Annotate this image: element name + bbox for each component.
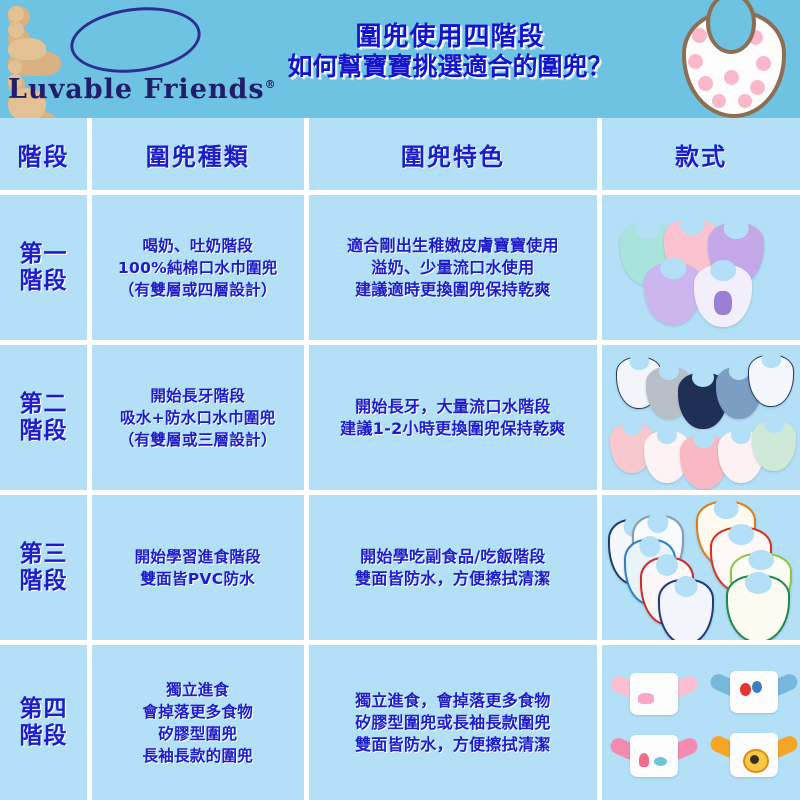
bib-feature-cell: 獨立進食，會掉落更多食物 矽膠型圍兜或長袖長款圍兜 雙面皆防水，方便擦拭清潔 bbox=[309, 645, 598, 800]
style-photo-stage-2 bbox=[602, 345, 800, 490]
table-row: 第三 階段 開始學習進食階段 雙面皆PVC防水 開始學吃副食品/吃飯階段 雙面皆… bbox=[0, 495, 800, 640]
stage-label: 第二 階段 bbox=[20, 391, 68, 445]
bib-type-cell: 開始長牙階段 吸水+防水口水巾圍兜 （有雙層或三層設計） bbox=[92, 345, 304, 490]
title-line-2: 如何幫寶寶挑選適合的圍兜？ bbox=[240, 52, 660, 82]
bib-type-text: 獨立進食 會掉落更多食物 矽膠型圍兜 長袖長款的圍兜 bbox=[138, 679, 257, 767]
bib-type-line: 喝奶、吐奶階段 bbox=[142, 237, 253, 255]
stage-line-1: 第四 bbox=[20, 696, 68, 722]
stage-label: 第四 階段 bbox=[20, 696, 68, 750]
bib-type-cell: 開始學習進食階段 雙面皆PVC防水 bbox=[92, 495, 304, 640]
stage-line-2: 階段 bbox=[20, 418, 68, 444]
column-header-style-label: 款式 bbox=[675, 137, 727, 172]
bib-type-cell: 喝奶、吐奶階段 100%純棉口水巾圍兜 （有雙層或四層設計） bbox=[92, 195, 304, 340]
stage-label: 第三 階段 bbox=[20, 541, 68, 595]
bib-feature-text: 開始學吃副食品/吃飯階段 雙面皆防水，方便擦拭清潔 bbox=[351, 546, 555, 590]
bib-feature-line: 適合剛出生稚嫩皮膚寶寶使用 bbox=[347, 236, 559, 255]
column-header-stage: 階段 bbox=[0, 118, 87, 190]
stage-line-2: 階段 bbox=[20, 568, 68, 594]
style-photo-stage-4 bbox=[602, 645, 800, 800]
bib-type-line: 開始學習進食階段 bbox=[135, 548, 261, 566]
stage-cell: 第四 階段 bbox=[0, 645, 87, 800]
column-header-feature: 圍兜特色 bbox=[309, 118, 598, 190]
bib-feature-line: 雙面皆防水，方便擦拭清潔 bbox=[355, 735, 551, 754]
bib-feature-cell: 開始學吃副食品/吃飯階段 雙面皆防水，方便擦拭清潔 bbox=[309, 495, 598, 640]
column-header-stage-label: 階段 bbox=[18, 137, 70, 172]
stages-table: 階段 圍兜種類 圍兜特色 款式 第一 階段 喝奶、吐奶階段 100%純棉口水巾圍… bbox=[0, 118, 800, 800]
bib-feature-line: 開始學吃副食品/吃飯階段 bbox=[360, 547, 545, 566]
stage-label: 第一 階段 bbox=[20, 241, 68, 295]
column-header-type-label: 圍兜種類 bbox=[146, 137, 250, 172]
bib-feature-line: 獨立進食，會掉落更多食物 bbox=[355, 691, 551, 710]
column-header-style: 款式 bbox=[602, 118, 800, 190]
page-title: 圍兜使用四階段 如何幫寶寶挑選適合的圍兜？ bbox=[240, 22, 660, 82]
style-photo-stage-1 bbox=[602, 195, 800, 340]
bib-type-line: 長袖長款的圍兜 bbox=[142, 747, 253, 765]
bib-feature-text: 開始長牙，大量流口水階段 建議1-2小時更換圍兜保持乾爽 bbox=[336, 396, 569, 440]
table-row: 第一 階段 喝奶、吐奶階段 100%純棉口水巾圍兜 （有雙層或四層設計） 適合剛… bbox=[0, 195, 800, 340]
bib-type-line: （有雙層或三層設計） bbox=[119, 431, 277, 449]
bib-feature-cell: 開始長牙，大量流口水階段 建議1-2小時更換圍兜保持乾爽 bbox=[309, 345, 598, 490]
stage-line-2: 階段 bbox=[20, 268, 68, 294]
logo-ellipse-icon bbox=[67, 0, 205, 79]
bib-type-line: 矽膠型圍兜 bbox=[158, 725, 237, 743]
bib-feature-line: 溢奶、少量流口水使用 bbox=[371, 258, 534, 277]
bib-type-line: （有雙層或四層設計） bbox=[119, 281, 277, 299]
stage-cell: 第一 階段 bbox=[0, 195, 87, 340]
bib-type-line: 開始長牙階段 bbox=[150, 387, 245, 405]
bib-feature-cell: 適合剛出生稚嫩皮膚寶寶使用 溢奶、少量流口水使用 建議適時更換圍兜保持乾爽 bbox=[309, 195, 598, 340]
brand-name: Luvable Friends® bbox=[8, 74, 230, 105]
bib-feature-line: 建議1-2小時更換圍兜保持乾爽 bbox=[340, 419, 565, 438]
bib-feature-line: 建議適時更換圍兜保持乾爽 bbox=[355, 280, 551, 299]
title-line-1: 圍兜使用四階段 bbox=[240, 22, 660, 52]
stage-cell: 第三 階段 bbox=[0, 495, 87, 640]
column-header-feature-label: 圍兜特色 bbox=[401, 137, 505, 172]
bib-type-text: 開始長牙階段 吸水+防水口水巾圍兜 （有雙層或三層設計） bbox=[115, 385, 281, 451]
bib-feature-text: 適合剛出生稚嫩皮膚寶寶使用 溢奶、少量流口水使用 建議適時更換圍兜保持乾爽 bbox=[343, 235, 563, 301]
bib-type-line: 獨立進食 bbox=[166, 681, 229, 699]
bib-feature-line: 開始長牙，大量流口水階段 bbox=[355, 397, 551, 416]
style-photo-stage-3 bbox=[602, 495, 800, 640]
stage-line-1: 第三 bbox=[20, 541, 68, 567]
stage-line-1: 第二 bbox=[20, 391, 68, 417]
stage-line-1: 第一 bbox=[20, 241, 68, 267]
bib-feature-line: 雙面皆防水，方便擦拭清潔 bbox=[355, 569, 551, 588]
polka-dot-bib-icon bbox=[672, 8, 790, 112]
header-band: Luvable Friends® 圍兜使用四階段 如何幫寶寶挑選適合的圍兜？ bbox=[0, 0, 800, 118]
column-header-type: 圍兜種類 bbox=[92, 118, 304, 190]
brand-name-text: Luvable Friends bbox=[8, 74, 265, 105]
bib-type-line: 會掉落更多食物 bbox=[142, 703, 253, 721]
stage-line-2: 階段 bbox=[20, 723, 68, 749]
bib-feature-line: 矽膠型圍兜或長袖長款圍兜 bbox=[355, 713, 551, 732]
bib-type-line: 100%純棉口水巾圍兜 bbox=[118, 259, 278, 277]
stage-cell: 第二 階段 bbox=[0, 345, 87, 490]
table-row: 第四 階段 獨立進食 會掉落更多食物 矽膠型圍兜 長袖長款的圍兜 獨立進食，會掉… bbox=[0, 645, 800, 800]
bib-type-text: 喝奶、吐奶階段 100%純棉口水巾圍兜 （有雙層或四層設計） bbox=[114, 235, 282, 301]
bib-type-text: 開始學習進食階段 雙面皆PVC防水 bbox=[131, 546, 265, 590]
brand-logo: Luvable Friends® bbox=[8, 6, 238, 114]
bib-type-line: 雙面皆PVC防水 bbox=[140, 570, 255, 588]
infographic-page: Luvable Friends® 圍兜使用四階段 如何幫寶寶挑選適合的圍兜？ bbox=[0, 0, 800, 800]
table-row: 第二 階段 開始長牙階段 吸水+防水口水巾圍兜 （有雙層或三層設計） 開始長牙，… bbox=[0, 345, 800, 490]
bib-type-cell: 獨立進食 會掉落更多食物 矽膠型圍兜 長袖長款的圍兜 bbox=[92, 645, 304, 800]
bib-feature-text: 獨立進食，會掉落更多食物 矽膠型圍兜或長袖長款圍兜 雙面皆防水，方便擦拭清潔 bbox=[351, 690, 555, 756]
table-header-row: 階段 圍兜種類 圍兜特色 款式 bbox=[0, 118, 800, 190]
bib-type-line: 吸水+防水口水巾圍兜 bbox=[120, 409, 276, 427]
